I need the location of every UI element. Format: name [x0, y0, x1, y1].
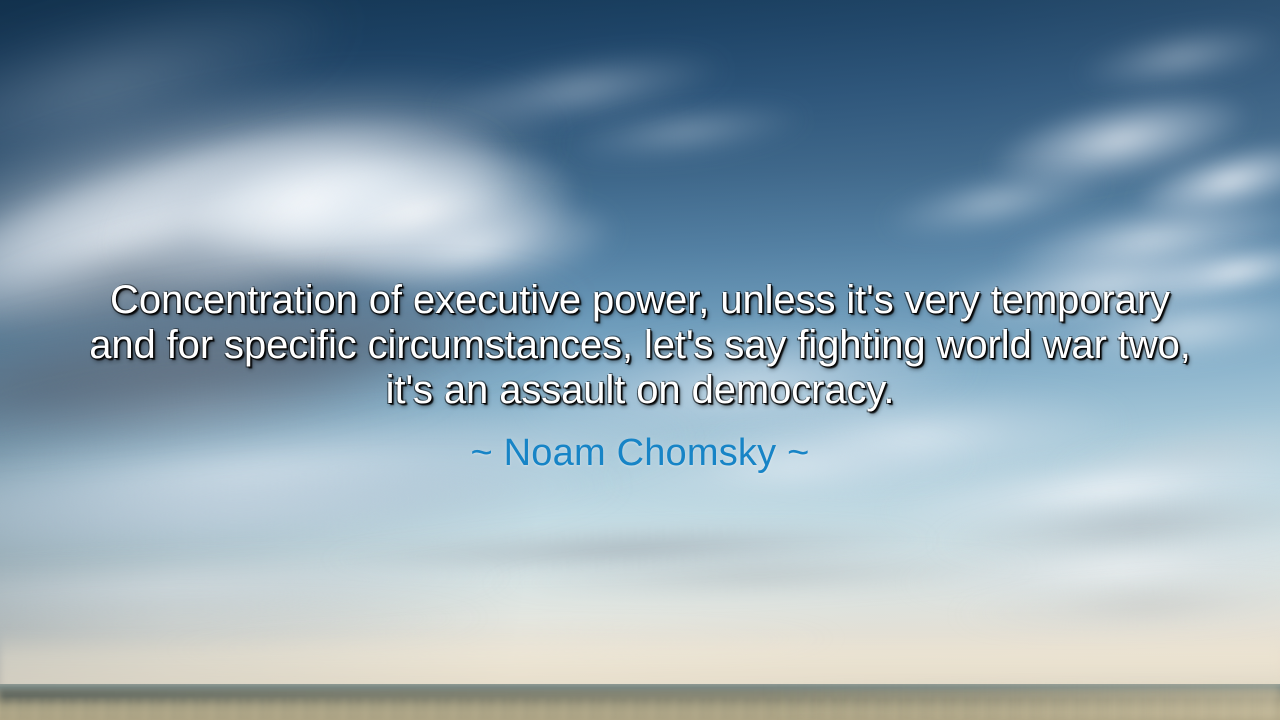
horizon-haze [0, 630, 1280, 690]
quote-image-canvas: Concentration of executive power, unless… [0, 0, 1280, 720]
ground-warm-glow [760, 684, 1280, 720]
quote-text: Concentration of executive power, unless… [80, 278, 1200, 413]
quote-author: ~ Noam Chomsky ~ [80, 413, 1200, 475]
quote-overlay: Concentration of executive power, unless… [80, 278, 1200, 475]
